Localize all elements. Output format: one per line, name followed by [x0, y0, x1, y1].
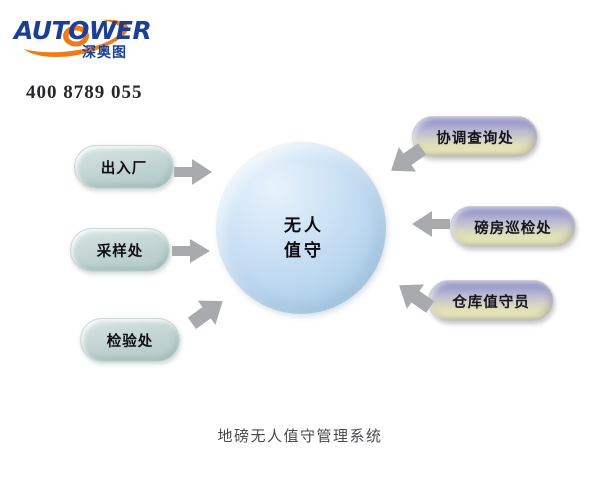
- arrow-right-icon: [170, 236, 214, 266]
- diagram-canvas: 无人 值守 出入厂 采样处 检验处 协调查询处 磅房巡检处 仓库值守员: [0, 0, 600, 480]
- node-sampling[interactable]: 采样处: [70, 228, 170, 272]
- node-weighbridge-patrol-label: 磅房巡检处: [474, 217, 552, 238]
- node-entry-exit-label: 出入厂: [101, 157, 148, 178]
- node-warehouse-keeper-label: 仓库值守员: [452, 291, 530, 312]
- logo-wordmark: AUTOWER: [14, 16, 151, 45]
- logo-chinese-name: 深奥图: [82, 42, 127, 62]
- arrow-up-right-icon: [186, 288, 232, 334]
- hub-node-unattended: 无人 值守: [216, 142, 386, 314]
- node-entry-exit[interactable]: 出入厂: [74, 145, 174, 189]
- arrow-left-icon: [408, 208, 452, 240]
- node-inspection-label: 检验处: [107, 330, 154, 351]
- node-sampling-label: 采样处: [97, 240, 144, 261]
- node-warehouse-keeper[interactable]: 仓库值守员: [428, 280, 554, 322]
- company-logo: AUTOWER 深奥图: [14, 14, 146, 62]
- arrow-up-left-icon: [390, 272, 436, 318]
- diagram-caption: 地磅无人值守管理系统: [0, 425, 600, 446]
- node-coordination-inquiry-label: 协调查询处: [436, 127, 514, 148]
- arrow-down-left-icon: [382, 138, 428, 184]
- brand-header: AUTOWER 深奥图 400 8789 055: [14, 14, 164, 64]
- arrow-right-icon: [172, 156, 216, 188]
- node-coordination-inquiry[interactable]: 协调查询处: [412, 116, 538, 158]
- node-weighbridge-patrol[interactable]: 磅房巡检处: [450, 206, 576, 248]
- hub-node-label: 无人 值守: [284, 214, 324, 263]
- node-inspection[interactable]: 检验处: [80, 318, 180, 362]
